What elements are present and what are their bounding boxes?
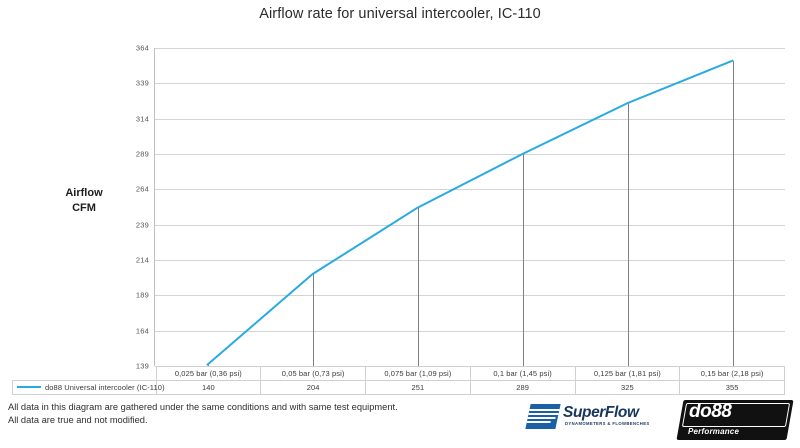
y-tick-label: 339 <box>115 79 149 88</box>
do88-tagline: Performance <box>688 427 739 436</box>
table-row-categories: 0,025 bar (0,36 psi) 0,05 bar (0,73 psi)… <box>13 367 785 381</box>
value-cell-1: 204 <box>261 381 366 395</box>
category-cell-0: 0,025 bar (0,36 psi) <box>156 367 261 381</box>
chart-title: Airflow rate for universal intercooler, … <box>0 6 800 22</box>
y-tick-label: 264 <box>115 185 149 194</box>
value-cell-4: 325 <box>575 381 680 395</box>
series-line-chart <box>155 48 785 366</box>
y-tick-label: 164 <box>115 326 149 335</box>
category-cell-2: 0,075 bar (1,09 psi) <box>366 367 471 381</box>
y-tick-label: 239 <box>115 220 149 229</box>
data-table: 0,025 bar (0,36 psi) 0,05 bar (0,73 psi)… <box>12 366 785 395</box>
footnote: All data in this diagram are gathered un… <box>8 401 398 427</box>
category-cell-3: 0,1 bar (1,45 psi) <box>470 367 575 381</box>
superflow-logo: SuperFlow DYNAMOMETERS & FLOWBENCHES <box>528 402 660 432</box>
value-cell-5: 355 <box>680 381 785 395</box>
series-line <box>208 61 733 365</box>
category-cell-5: 0,15 bar (2,18 psi) <box>680 367 785 381</box>
y-tick-label: 364 <box>115 44 149 53</box>
superflow-tagline: DYNAMOMETERS & FLOWBENCHES <box>565 421 650 426</box>
y-tick-label: 314 <box>115 114 149 123</box>
y-tick-label: 214 <box>115 256 149 265</box>
do88-wordmark: do88 <box>689 401 731 423</box>
table-corner-blank <box>13 367 157 381</box>
y-axis-label-line2: CFM <box>30 201 138 216</box>
y-tick-label: 289 <box>115 150 149 159</box>
value-cell-0: 140 <box>156 381 261 395</box>
y-tick-label: 189 <box>115 291 149 300</box>
footnote-line-1: All data in this diagram are gathered un… <box>8 401 398 414</box>
legend-label-0: do88 Universal intercooler (IC-110) <box>45 383 165 392</box>
legend-item-0: do88 Universal intercooler (IC-110) <box>13 381 157 395</box>
legend-line-swatch-icon <box>17 386 41 388</box>
value-cell-2: 251 <box>366 381 471 395</box>
footnote-line-2: All data are true and not modified. <box>8 414 398 427</box>
plot-area: 139164189214239264289314339364 <box>155 48 785 366</box>
superflow-wordmark: SuperFlow <box>563 404 639 422</box>
superflow-swoosh-icon <box>525 404 560 429</box>
do88-logo: do88 Performance <box>680 400 790 440</box>
table-row-values: do88 Universal intercooler (IC-110) 140 … <box>13 381 785 395</box>
value-cell-3: 289 <box>470 381 575 395</box>
logo-row: SuperFlow DYNAMOMETERS & FLOWBENCHES do8… <box>528 400 790 442</box>
category-cell-4: 0,125 bar (1,81 psi) <box>575 367 680 381</box>
category-cell-1: 0,05 bar (0,73 psi) <box>261 367 366 381</box>
